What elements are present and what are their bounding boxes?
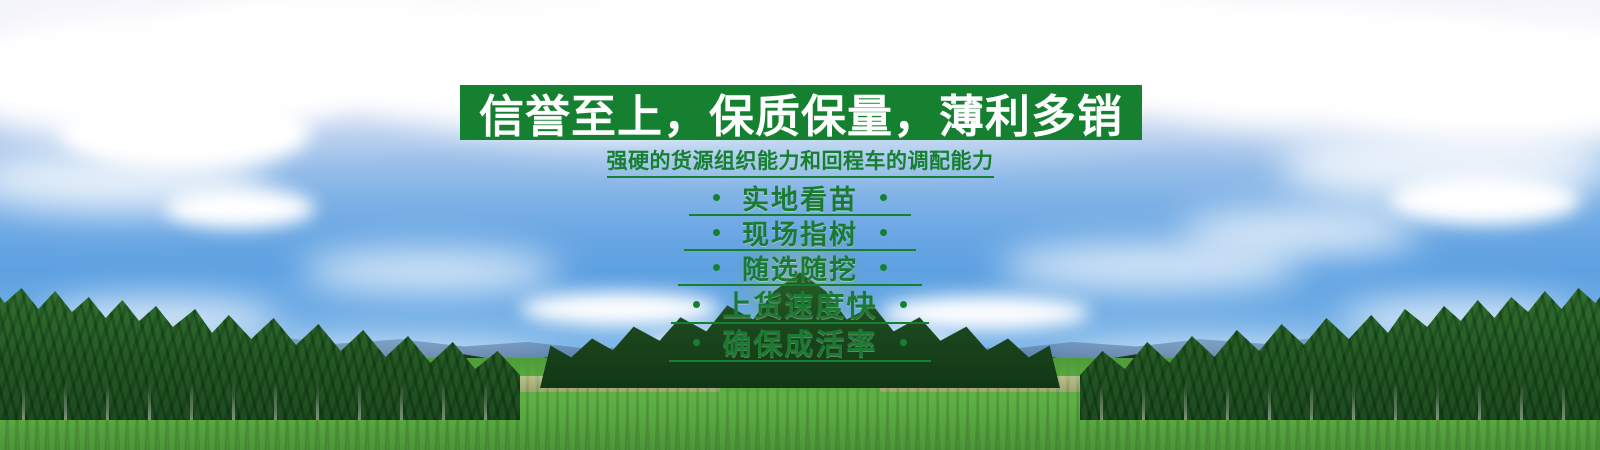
feature-item: 确保成活率 [0, 323, 1600, 361]
bullet-dot-icon [693, 339, 700, 346]
headline-text: 信誉至上，保质保量，薄利多销 [460, 85, 1142, 140]
feature-label: 实地看苗 [742, 178, 858, 217]
feature-item: 随选随挖 [0, 250, 1600, 285]
bullet-dot-icon [880, 264, 887, 271]
promo-banner: 信誉至上，保质保量，薄利多销 强硬的货源组织能力和回程车的调配能力 实地看苗 现… [0, 0, 1600, 450]
bullet-dot-icon [880, 229, 887, 236]
tree-trunks [1080, 382, 1600, 420]
bullet-dot-icon [693, 301, 700, 308]
feature-label: 随选随挖 [742, 248, 858, 287]
bullet-dot-icon [713, 264, 720, 271]
bullet-dot-icon [880, 194, 887, 201]
feature-item: 实地看苗 [0, 180, 1600, 215]
feature-underline [669, 360, 931, 362]
subtitle: 强硬的货源组织能力和回程车的调配能力 [0, 145, 1600, 178]
bullet-dot-icon [713, 194, 720, 201]
feature-label: 现场指树 [742, 213, 858, 252]
bullet-dot-icon [900, 301, 907, 308]
feature-item: 上货速度快 [0, 285, 1600, 323]
subtitle-text: 强硬的货源组织能力和回程车的调配能力 [607, 145, 994, 178]
feature-item: 现场指树 [0, 215, 1600, 250]
feature-list: 实地看苗 现场指树 随选随挖 上货速度快 确保成活率 [0, 180, 1600, 361]
feature-label: 上货速度快 [722, 283, 877, 325]
tree-trunks [0, 382, 520, 420]
bullet-dot-icon [900, 339, 907, 346]
feature-label: 确保成活率 [722, 321, 877, 363]
bullet-dot-icon [713, 229, 720, 236]
